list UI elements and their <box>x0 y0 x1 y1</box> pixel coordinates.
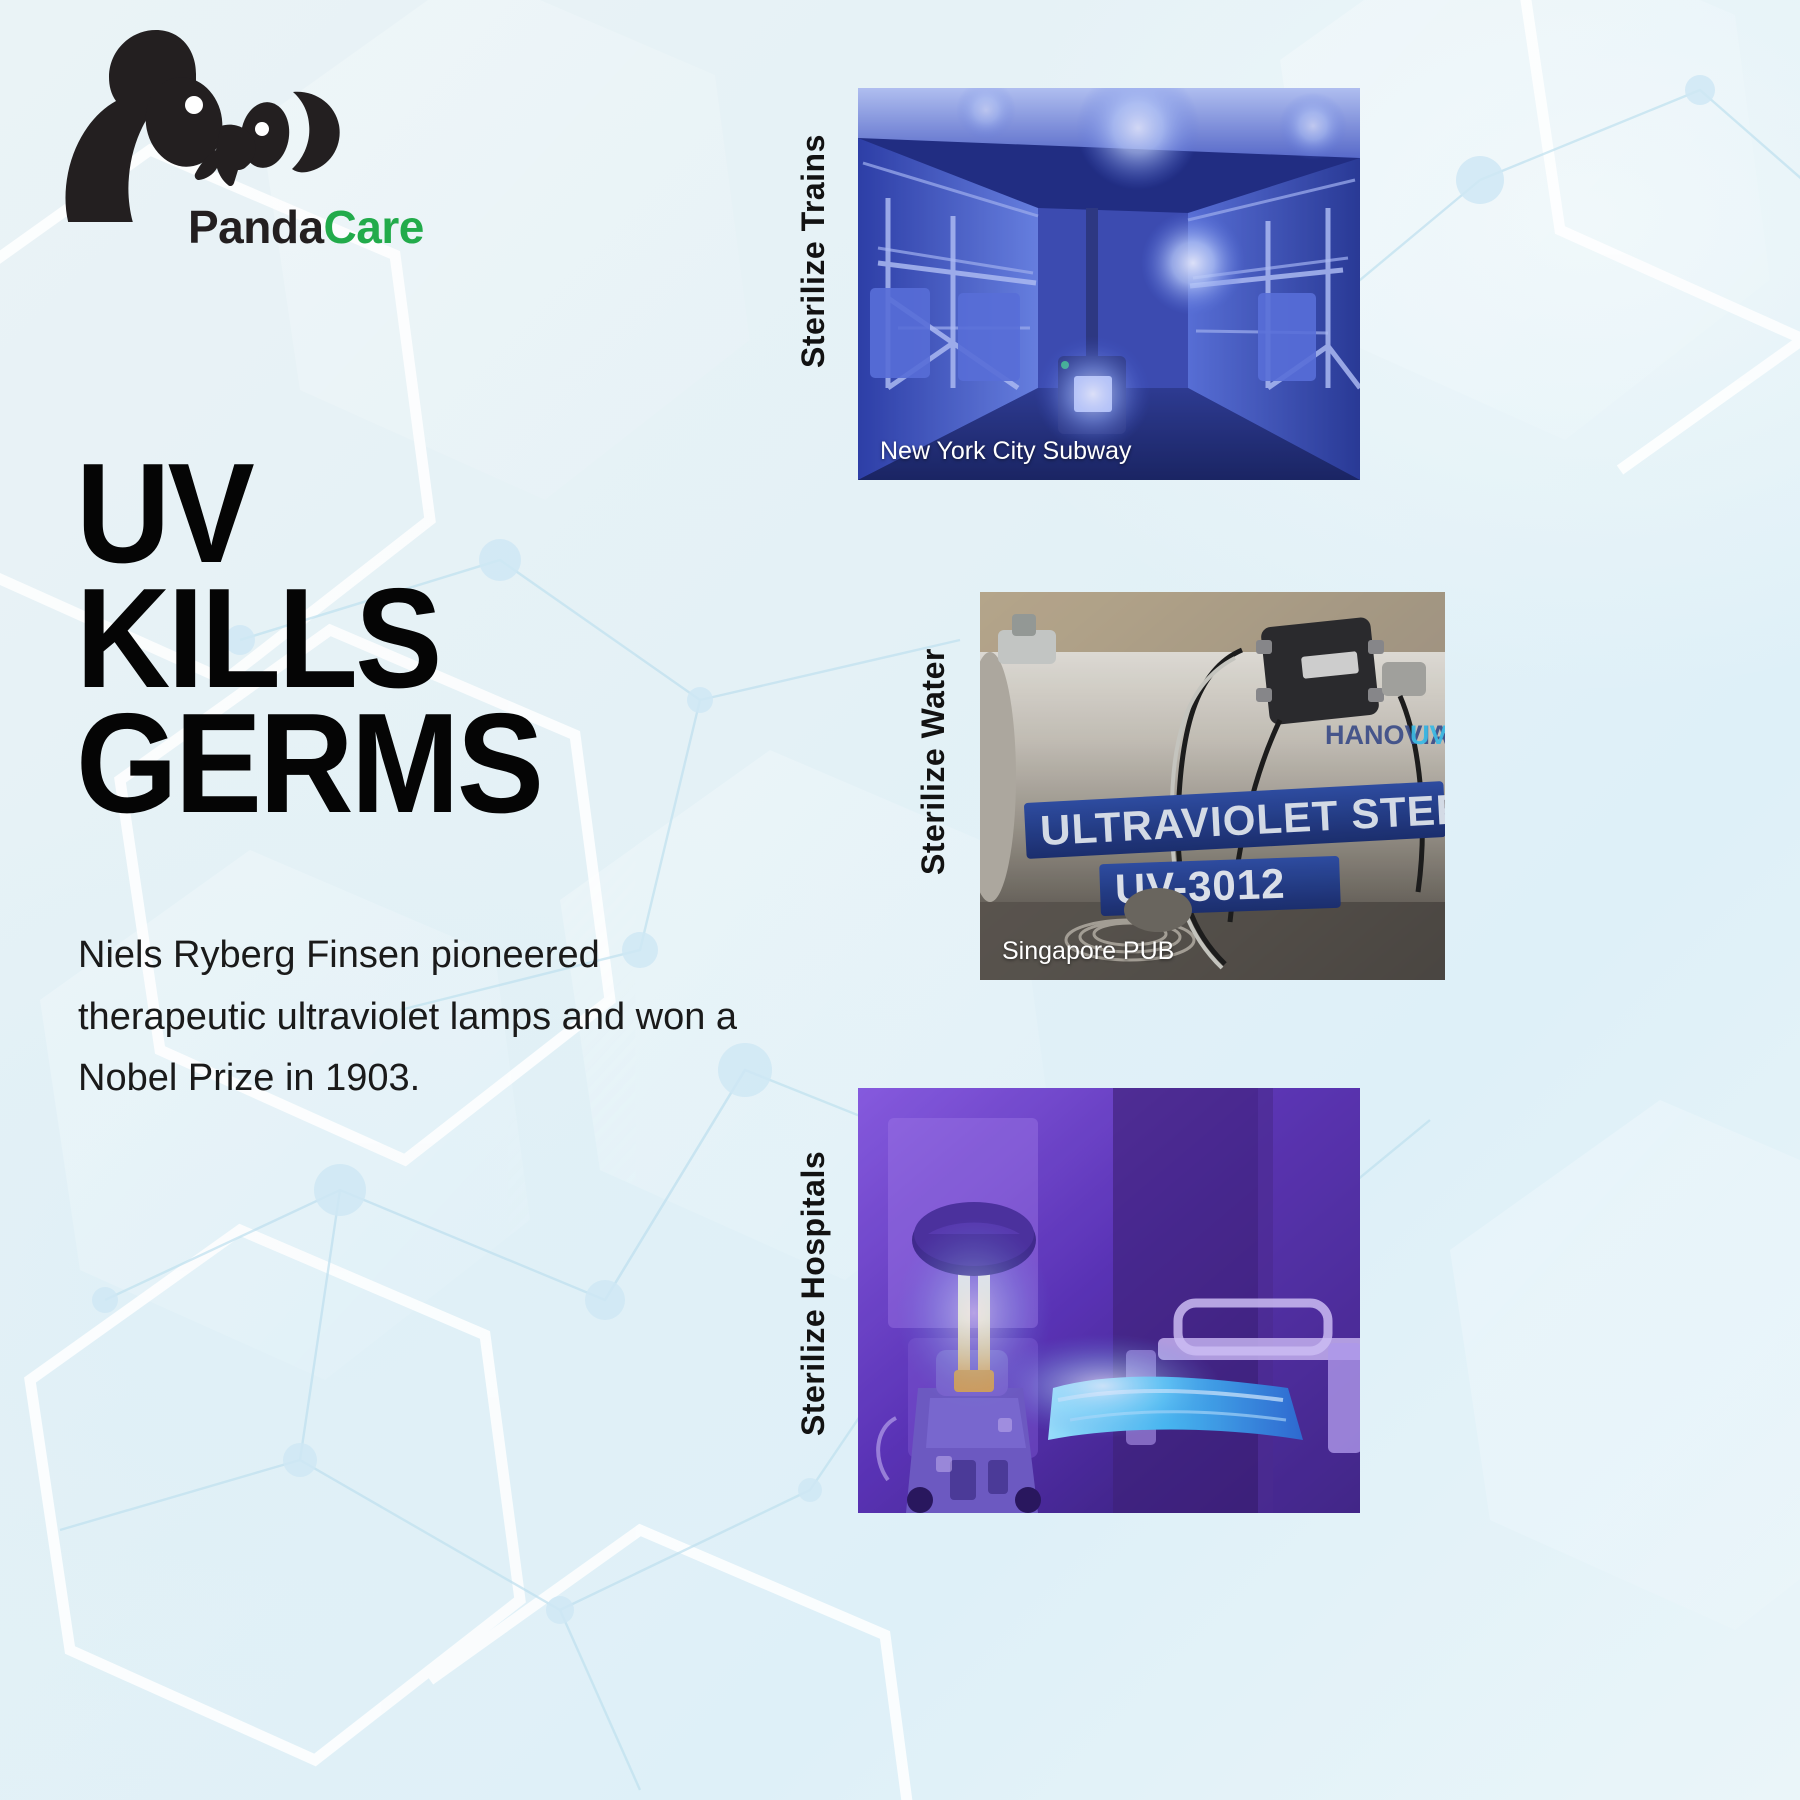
panel-sterilize-trains: Sterilize Trains <box>795 88 1360 488</box>
photo-caption-water: Singapore PUB <box>1002 937 1174 966</box>
photo-caption-subway: New York City Subway <box>880 437 1132 466</box>
photo-subway-uv: New York City Subway <box>858 88 1360 480</box>
brand-wordmark: PandaCare <box>188 200 424 254</box>
photo-hospital-uv <box>858 1088 1360 1513</box>
brand-name-part1: Panda <box>188 201 324 253</box>
panel-label-trains: Sterilize Trains <box>795 96 832 368</box>
headline-line-3: GERMS <box>76 702 720 827</box>
subway-interior-illustration <box>858 88 1360 480</box>
page-title: UV KILLS GERMS <box>76 452 720 827</box>
brand-name-part2: Care <box>324 201 424 253</box>
panel-label-hospitals: Sterilize Hospitals <box>795 1106 832 1436</box>
panel-sterilize-hospitals: Sterilize Hospitals <box>795 1088 1360 1518</box>
hospital-uv-robot-illustration <box>858 1088 1360 1513</box>
panel-sterilize-water: Sterilize Water <box>915 585 1445 985</box>
body-paragraph: Niels Ryberg Finsen pioneered therapeuti… <box>78 925 738 1110</box>
uv-water-sterilizer-illustration: ULTRAVIOLET STERILIZE UV-3012 HANOVIA UV <box>980 592 1445 980</box>
brand-logo[interactable]: PandaCare <box>48 22 408 272</box>
panda-head-icon <box>48 22 368 222</box>
photo-water-sterilizer: ULTRAVIOLET STERILIZE UV-3012 HANOVIA UV… <box>980 592 1445 980</box>
panel-label-water: Sterilize Water <box>915 605 952 875</box>
